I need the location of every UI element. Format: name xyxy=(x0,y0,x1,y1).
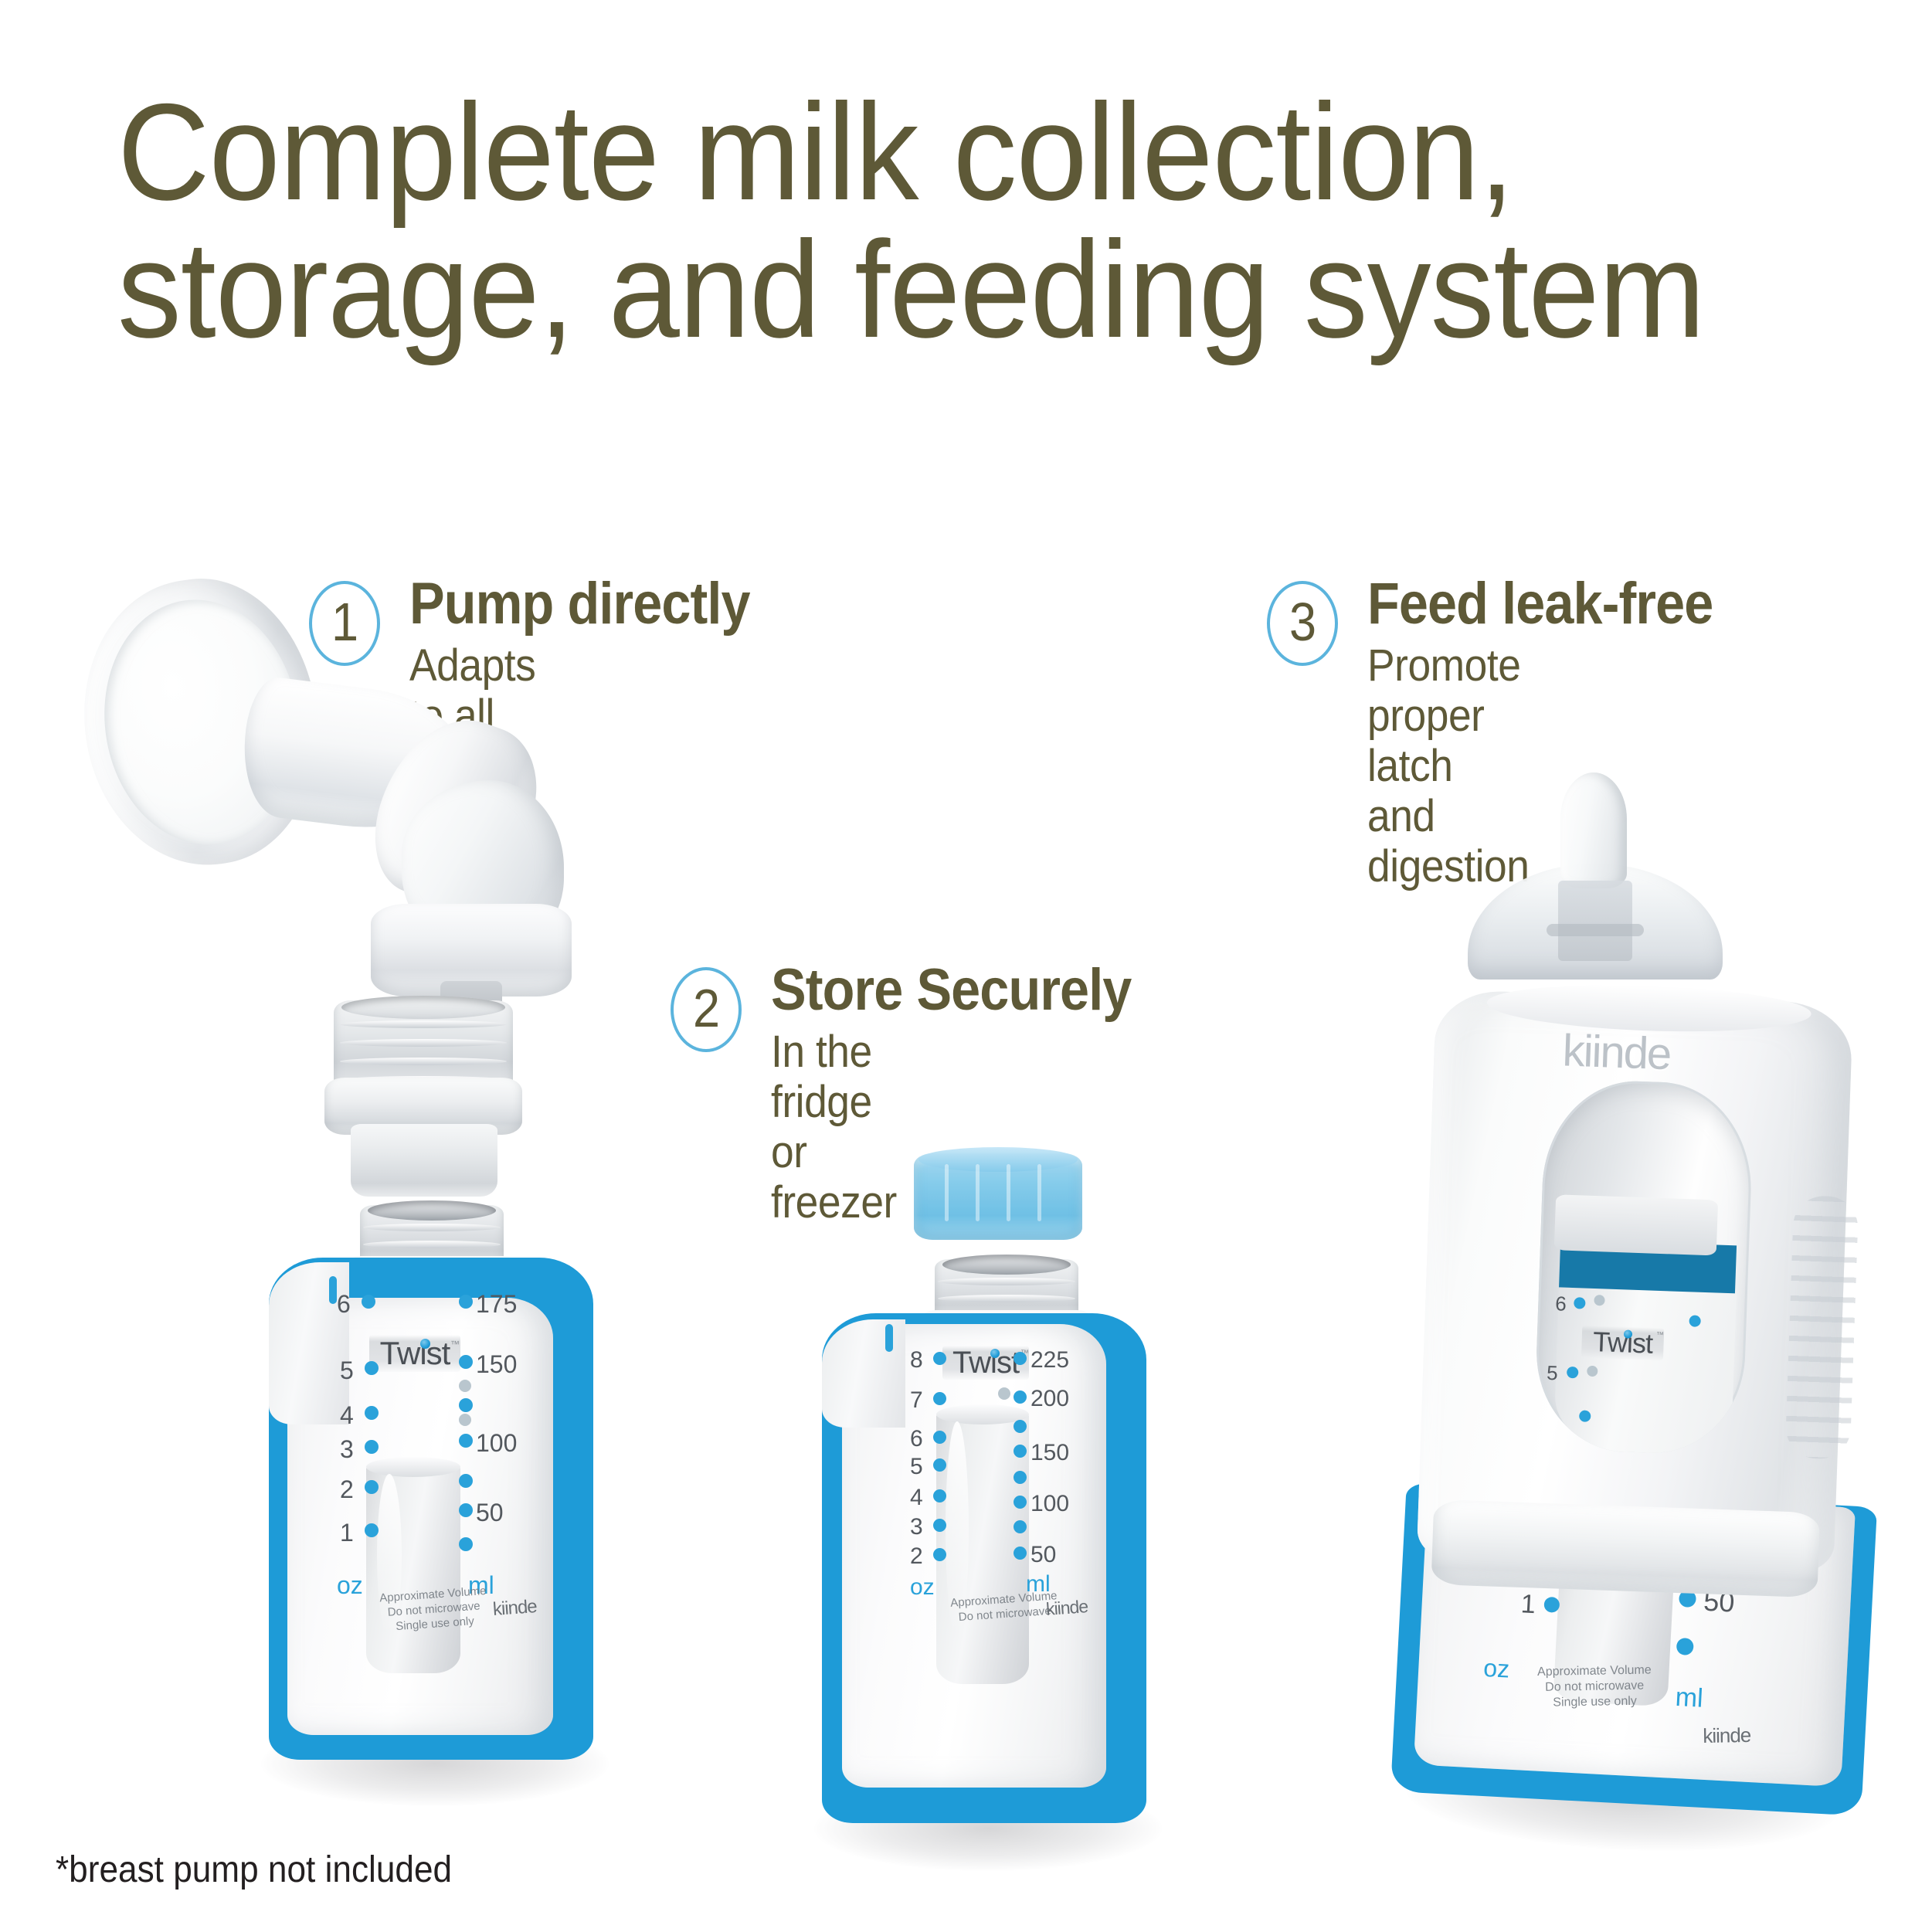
nipple-teat xyxy=(1560,772,1627,888)
bag-1-oz-1: 1 xyxy=(340,1519,354,1547)
step-2-subtitle: In the fridge or freezer xyxy=(771,1027,897,1228)
infographic-canvas: Complete milk collection, storage, and f… xyxy=(0,0,1932,1932)
bag-2-oz-unit: oz xyxy=(910,1574,935,1601)
step-2-number: 2 xyxy=(692,981,719,1035)
bag-2-ml-50: 50 xyxy=(1031,1542,1056,1568)
milk-storage-bag-1: Twist ™ 6 5 4 3 2 1 175 150 100 50 oz ml xyxy=(269,1258,593,1760)
bottle-holder-illustration: kiinde 6 5 Twist ™ xyxy=(1393,989,1884,1592)
nipple-band xyxy=(1547,924,1644,936)
bag-1-twist-logo: Twist ™ xyxy=(369,1335,460,1372)
bag-2-ml-150: 150 xyxy=(1031,1440,1069,1466)
bag-3-ml-unit: ml xyxy=(1675,1682,1704,1714)
bag-2-oz-7: 7 xyxy=(910,1387,923,1414)
bag-2-ml-100: 100 xyxy=(1031,1491,1069,1517)
page-title: Complete milk collection, storage, and f… xyxy=(117,83,1734,358)
bag-1-ml-175: 175 xyxy=(476,1290,517,1319)
bag-1-oz-6: 6 xyxy=(337,1290,351,1319)
step-2-number-badge: 2 xyxy=(671,967,742,1052)
bag-2-brandmark: kiinde xyxy=(1045,1596,1088,1620)
bag-2-oz-8: 8 xyxy=(910,1347,923,1373)
holder-window: 6 5 Twist ™ xyxy=(1533,1078,1755,1456)
bag-2-oz-3: 3 xyxy=(910,1514,923,1540)
bag-1-oz-3: 3 xyxy=(340,1435,354,1464)
nipple-collar xyxy=(1558,881,1632,961)
bag-1-oz-4: 4 xyxy=(340,1401,354,1430)
bag-inner-oz-6: 6 xyxy=(1555,1292,1567,1316)
bag-1-fill-tick xyxy=(329,1276,337,1304)
step-2-title: Store Securely xyxy=(771,956,1131,1024)
bag-1-trademark: ™ xyxy=(450,1339,460,1350)
holder-brand-emboss: kiinde xyxy=(1562,1024,1757,1078)
adapter-base xyxy=(351,1124,497,1197)
bag-1-twist-wordmark: Twist xyxy=(380,1337,450,1370)
bag-1-ml-100: 100 xyxy=(476,1429,517,1458)
feeding-nipple-illustration xyxy=(1468,772,1723,981)
milk-storage-bag-2: Twist ™ 8 7 6 5 4 3 2 225 200 150 100 50 xyxy=(822,1313,1146,1823)
bag-2-ml-200: 200 xyxy=(1031,1386,1069,1412)
bag-2-oz-4: 4 xyxy=(910,1485,923,1511)
bag-3-oz-1: 1 xyxy=(1520,1589,1536,1620)
bag-1-ml-50: 50 xyxy=(476,1499,504,1527)
bag-inner-oz-5: 5 xyxy=(1547,1361,1559,1385)
bag-inner-twist-wordmark: Twist xyxy=(1592,1328,1652,1358)
holder-bottom-ring xyxy=(1431,1499,1821,1598)
footnote-disclaimer: *breast pump not included xyxy=(56,1849,452,1891)
step-3-title: Feed leak-free xyxy=(1367,570,1713,637)
bag-1-oz-unit: oz xyxy=(337,1571,363,1600)
bag-1-oz-2: 2 xyxy=(340,1475,354,1504)
bag-3-fineprint: Approximate Volume Do not microwave Sing… xyxy=(1521,1662,1669,1711)
holder-grip-texture xyxy=(1785,1195,1859,1460)
bag-2-fill-tick xyxy=(885,1324,893,1352)
bag-2-oz-5: 5 xyxy=(910,1454,923,1480)
bag-1-oz-5: 5 xyxy=(340,1356,354,1385)
twist-cap-illustration xyxy=(914,1153,1082,1240)
bag-inner-twist-logo: Twist ™ xyxy=(1581,1325,1664,1360)
breast-pump-flange-illustration xyxy=(77,572,587,1004)
bag-1-brandmark: kiinde xyxy=(492,1596,538,1621)
bag-1-side-gusset xyxy=(269,1262,349,1424)
bag-3-oz-unit: oz xyxy=(1482,1654,1510,1684)
bag-2-ml-225: 225 xyxy=(1031,1347,1069,1373)
bag-1-ml-150: 150 xyxy=(476,1350,517,1379)
bag-inner-trademark: ™ xyxy=(1656,1331,1664,1339)
cap-top-face xyxy=(918,1147,1078,1172)
step-3-number: 3 xyxy=(1289,595,1316,649)
step-3-number-badge: 3 xyxy=(1267,581,1338,666)
bag-2-oz-6: 6 xyxy=(910,1426,923,1452)
bag-2-twist-wordmark: Twist xyxy=(952,1347,1019,1378)
bag-3-brandmark: kiinde xyxy=(1703,1723,1750,1748)
bag-2-oz-2: 2 xyxy=(910,1543,923,1570)
